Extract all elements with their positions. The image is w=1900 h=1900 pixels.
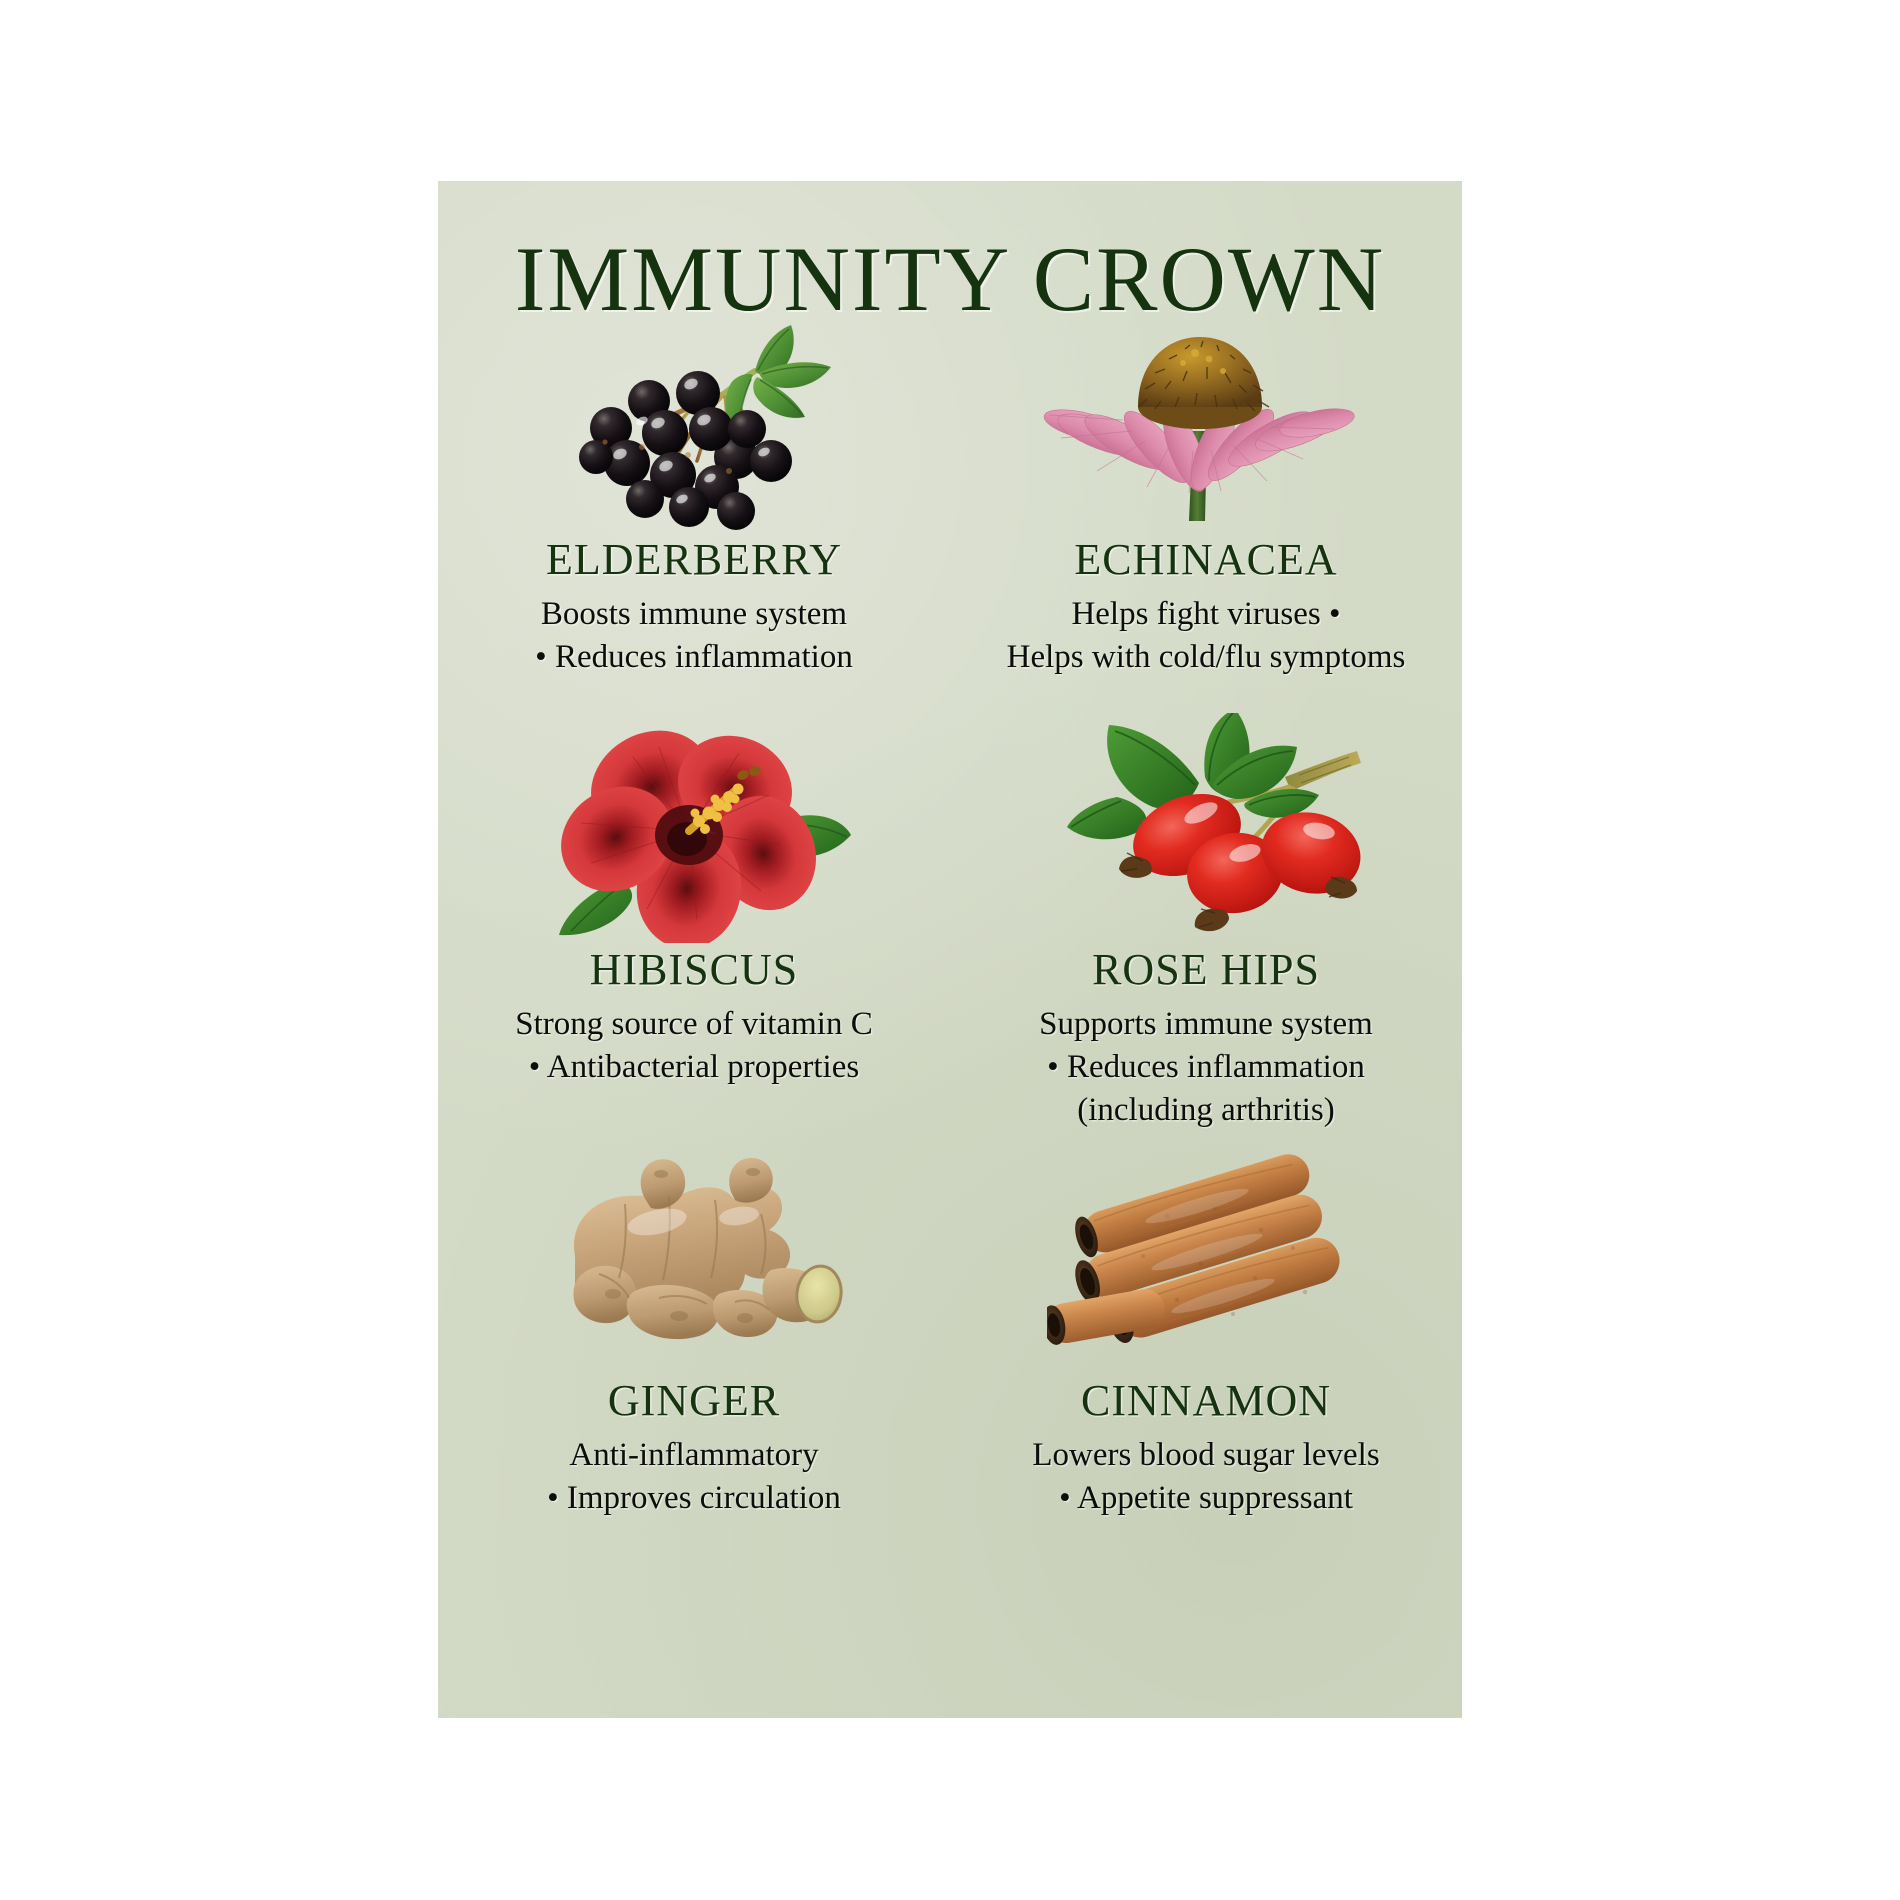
herb-benefit-line: • Improves circulation	[444, 1477, 944, 1520]
herb-description: Strong source of vitamin C • Antibacteri…	[444, 1003, 944, 1089]
herb-benefit-line: Anti-inflammatory	[444, 1434, 944, 1477]
herb-name: ECHINACEA	[1074, 537, 1337, 583]
herb-name: CINNAMON	[1081, 1378, 1331, 1424]
herb-benefit-line: • Reduces inflammation	[444, 636, 944, 679]
herb-benefit-line: • Reduces inflammation	[956, 1046, 1456, 1089]
herb-benefit-line: • Antibacterial properties	[444, 1046, 944, 1089]
herb-description: Supports immune system • Reduces inflamm…	[956, 1003, 1456, 1132]
herb-row: HIBISCUS Strong source of vitamin C • An…	[438, 713, 1462, 1132]
page-title: IMMUNITY CROWN	[438, 233, 1462, 325]
herb-description: Helps fight viruses • Helps with cold/fl…	[956, 593, 1456, 679]
herb-benefit-line: • Appetite suppressant	[956, 1477, 1456, 1520]
hibiscus-image	[529, 713, 859, 943]
herb-grid: ELDERBERRY Boosts immune system • Reduce…	[438, 311, 1462, 1520]
poster-canvas: IMMUNITY CROWN	[0, 0, 1900, 1900]
herb-name: HIBISCUS	[590, 947, 799, 993]
elderberry-image	[539, 311, 869, 533]
herb-name: ROSE HIPS	[1092, 947, 1320, 993]
herb-description: Lowers blood sugar levels • Appetite sup…	[956, 1434, 1456, 1520]
herb-benefit-line: Lowers blood sugar levels	[956, 1434, 1456, 1477]
herb-card-echinacea: ECHINACEA Helps fight viruses • Helps wi…	[950, 311, 1462, 679]
herb-name: ELDERBERRY	[546, 537, 842, 583]
hibiscus-icon	[529, 713, 859, 943]
herb-benefit-line: Helps with cold/flu symptoms	[956, 636, 1456, 679]
cinnamon-icon	[1047, 1144, 1377, 1374]
echinacea-icon	[1035, 311, 1365, 533]
herb-row: ELDERBERRY Boosts immune system • Reduce…	[438, 311, 1462, 679]
herb-card-ginger: GINGER Anti-inflammatory • Improves circ…	[438, 1144, 950, 1520]
echinacea-image	[1035, 311, 1365, 533]
herb-card-rose-hips: ROSE HIPS Supports immune system • Reduc…	[950, 713, 1462, 1132]
herb-description: Boosts immune system • Reduces inflammat…	[444, 593, 944, 679]
herb-benefit-line: (including arthritis)	[956, 1089, 1456, 1132]
rose-hips-image	[1049, 713, 1379, 943]
immunity-poster-card: IMMUNITY CROWN	[438, 181, 1462, 1718]
herb-card-hibiscus: HIBISCUS Strong source of vitamin C • An…	[438, 713, 950, 1132]
herb-benefit-line: Supports immune system	[956, 1003, 1456, 1046]
herb-row: GINGER Anti-inflammatory • Improves circ…	[438, 1144, 1462, 1520]
herb-benefit-line: Helps fight viruses •	[956, 593, 1456, 636]
herb-card-cinnamon: CINNAMON Lowers blood sugar levels • App…	[950, 1144, 1462, 1520]
ginger-image	[529, 1144, 859, 1374]
herb-description: Anti-inflammatory • Improves circulation	[444, 1434, 944, 1520]
elderberry-icon	[539, 311, 869, 533]
herb-benefit-line: Boosts immune system	[444, 593, 944, 636]
herb-name: GINGER	[608, 1378, 780, 1424]
rose-hips-icon	[1049, 713, 1379, 943]
herb-card-elderberry: ELDERBERRY Boosts immune system • Reduce…	[438, 311, 950, 679]
herb-benefit-line: Strong source of vitamin C	[444, 1003, 944, 1046]
ginger-icon	[529, 1144, 859, 1374]
cinnamon-image	[1047, 1144, 1377, 1374]
